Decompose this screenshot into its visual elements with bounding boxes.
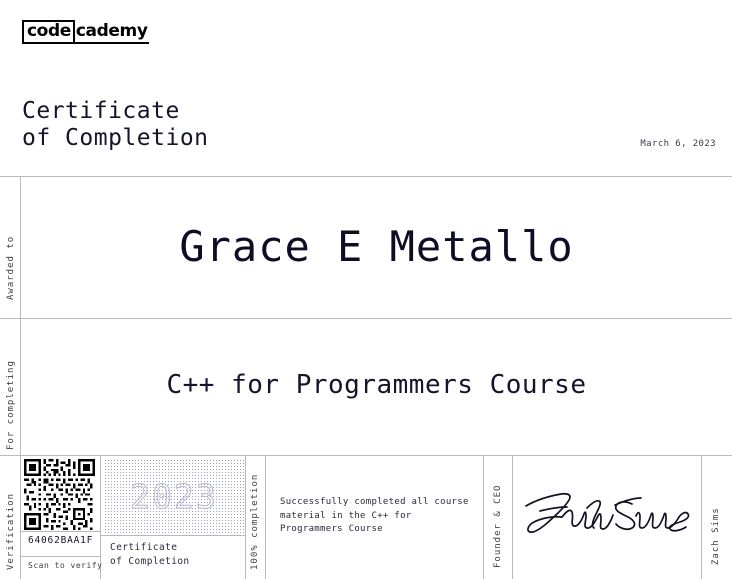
qr-code-icon[interactable] xyxy=(24,459,95,530)
rule-verification-column xyxy=(20,456,21,579)
codecademy-logo: codecademy xyxy=(22,20,149,44)
divider-name xyxy=(0,318,732,319)
rule-role-right xyxy=(512,456,513,579)
divider-header xyxy=(0,176,732,177)
scan-hint: Scan to verify xyxy=(28,561,102,570)
divider-code xyxy=(20,531,101,532)
page-title: Certificate of Completion xyxy=(22,98,209,152)
logo-rest-text: cademy xyxy=(75,22,149,44)
verification-code: 64062BAA1F xyxy=(28,535,93,546)
certificate-page: codecademy Certificate of Completion Mar… xyxy=(0,0,732,579)
for-completing-label: For completing xyxy=(6,340,16,450)
seal-caption: Certificate of Completion xyxy=(110,541,190,569)
issue-date: March 6, 2023 xyxy=(640,139,716,149)
completion-percent-label: 100% completion xyxy=(250,470,260,570)
completion-description: Successfully completed all course materi… xyxy=(280,496,480,537)
awarded-to-label: Awarded to xyxy=(6,200,16,300)
rule-signature-right xyxy=(701,456,702,579)
signer-role-label: Founder & CEO xyxy=(493,473,503,568)
divider-seal-caption xyxy=(100,535,245,536)
signer-name-label: Zach Sims xyxy=(711,480,721,565)
divider-scan xyxy=(20,556,101,557)
logo-boxed-text: code xyxy=(22,20,75,44)
rule-desc-right xyxy=(483,456,484,579)
course-name: C++ for Programmers Course xyxy=(21,370,732,400)
rule-seal-right xyxy=(245,456,246,579)
verification-label: Verification xyxy=(6,480,16,570)
divider-course xyxy=(0,455,732,456)
rule-completion-right xyxy=(265,456,266,579)
zach-sims-signature-icon xyxy=(520,470,700,560)
recipient-name: Grace E Metallo xyxy=(21,222,732,271)
seal-year: 2023 xyxy=(104,459,244,534)
